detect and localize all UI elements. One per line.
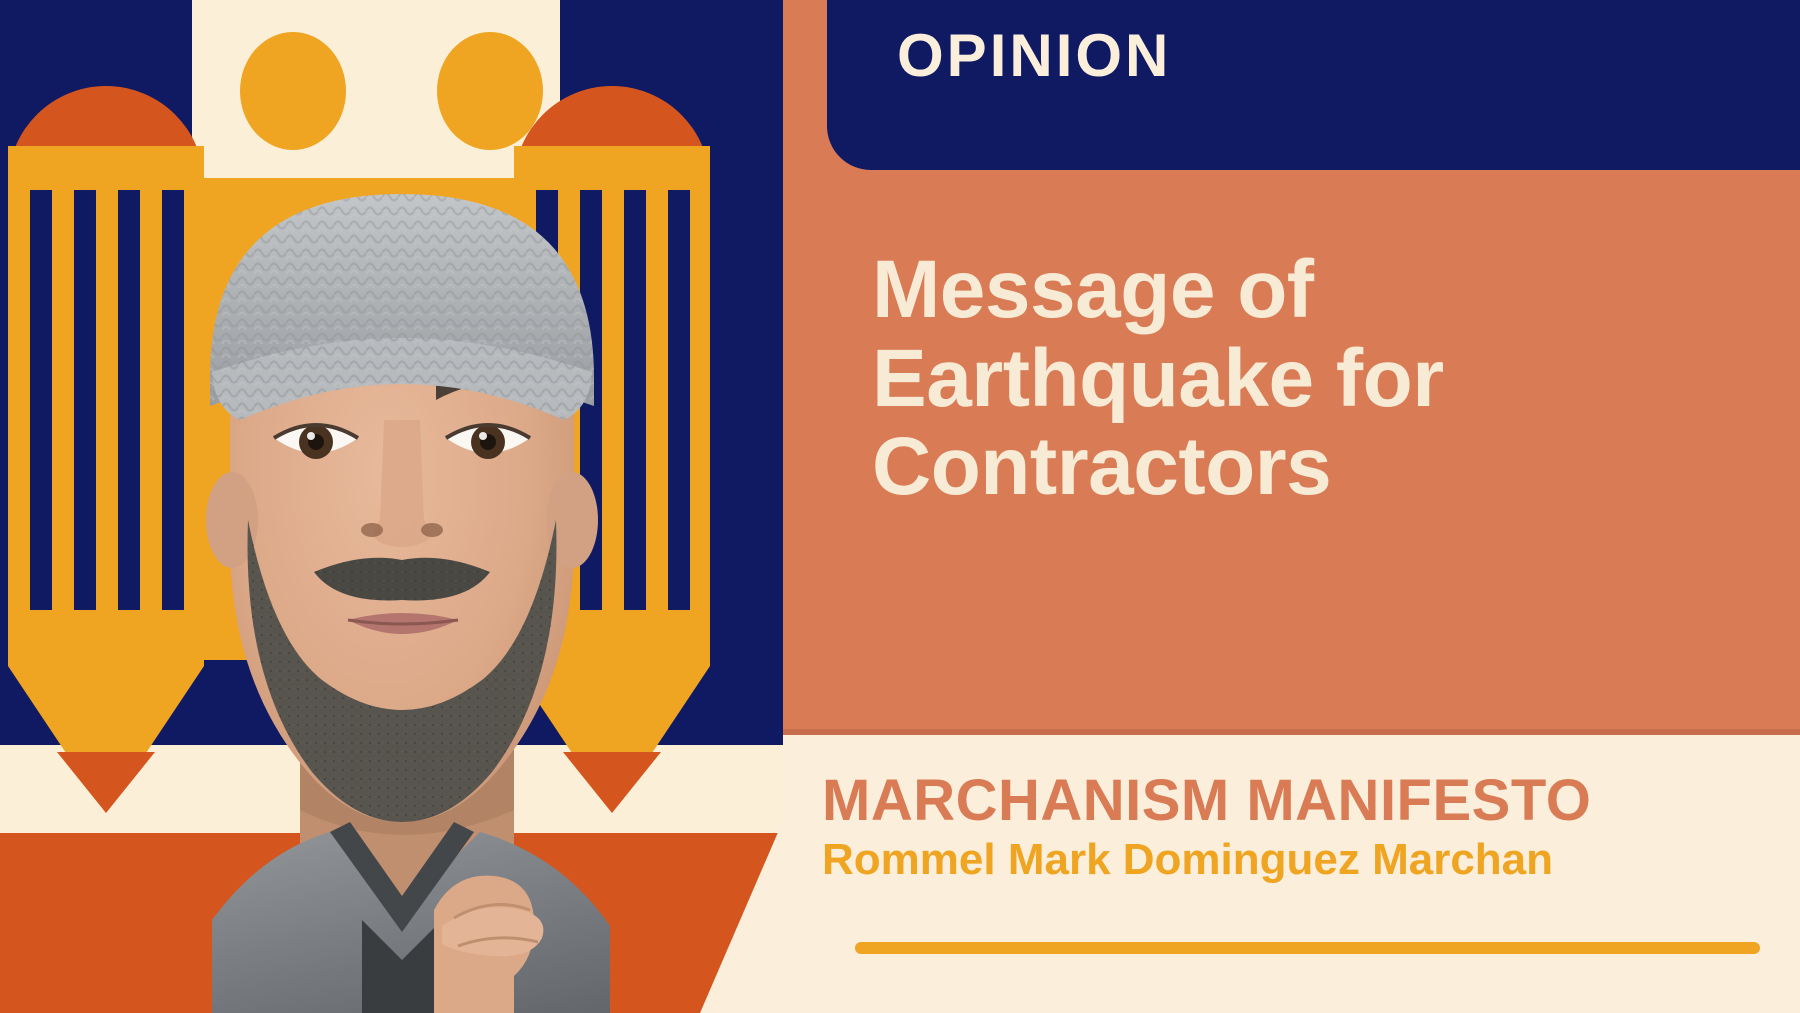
headline-line-3: Contractors: [872, 423, 1772, 512]
headline: Message of Earthquake for Contractors: [872, 246, 1772, 512]
footer-accent-rule: [855, 942, 1760, 954]
brand-title: MARCHANISM MANIFESTO: [822, 772, 1782, 830]
opinion-banner: OPINION Message of Earthquake for Contra…: [0, 0, 1800, 1013]
opinion-header-band: OPINION: [827, 0, 1800, 170]
portrait-photo: [62, 120, 742, 1013]
headline-line-1: Message of: [872, 246, 1772, 335]
headline-line-2: Earthquake for: [872, 335, 1772, 424]
kicker-label: OPINION: [897, 26, 1171, 86]
left-decorative-panel: [0, 0, 783, 1013]
author-byline: Rommel Mark Dominguez Marchan: [822, 838, 1782, 882]
pencil-stripe: [30, 190, 52, 610]
